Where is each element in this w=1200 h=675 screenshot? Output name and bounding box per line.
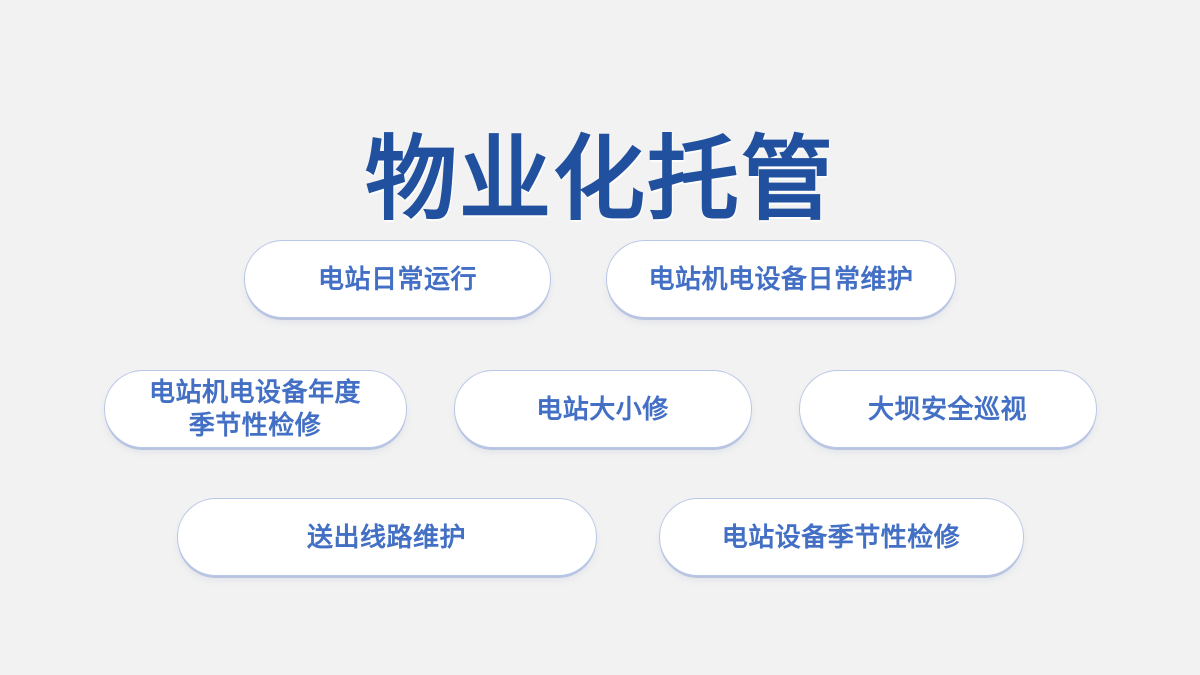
pill-label: 电站设备季节性检修 (722, 520, 961, 554)
pill-label: 大坝安全巡视 (868, 392, 1027, 426)
pill-station-major-minor-repair[interactable]: 电站大小修 (454, 370, 752, 448)
pill-electromechanical-daily-maintenance[interactable]: 电站机电设备日常维护 (606, 240, 956, 318)
pill-label: 电站机电设备日常维护 (648, 262, 913, 296)
slide-canvas: 物业化托管 电站日常运行 电站机电设备日常维护 电站机电设备年度 季节性检修 电… (0, 0, 1200, 675)
pill-label: 电站机电设备年度 季节性检修 (149, 376, 361, 442)
pill-label: 电站日常运行 (318, 262, 477, 296)
pill-dam-safety-inspection[interactable]: 大坝安全巡视 (799, 370, 1097, 448)
pill-row-2: 电站机电设备年度 季节性检修 电站大小修 大坝安全巡视 (0, 370, 1200, 448)
pill-row-3: 送出线路维护 电站设备季节性检修 (0, 498, 1200, 576)
page-title: 物业化托管 (0, 128, 1200, 232)
pill-electromechanical-annual-seasonal-overhaul[interactable]: 电站机电设备年度 季节性检修 (104, 370, 407, 448)
pill-row-1: 电站日常运行 电站机电设备日常维护 (0, 240, 1200, 318)
pill-station-equipment-seasonal-overhaul[interactable]: 电站设备季节性检修 (659, 498, 1024, 576)
pill-label: 电站大小修 (536, 392, 669, 426)
pill-label: 送出线路维护 (307, 520, 466, 554)
pill-transmission-line-maintenance[interactable]: 送出线路维护 (177, 498, 597, 576)
pill-station-daily-operation[interactable]: 电站日常运行 (244, 240, 551, 318)
